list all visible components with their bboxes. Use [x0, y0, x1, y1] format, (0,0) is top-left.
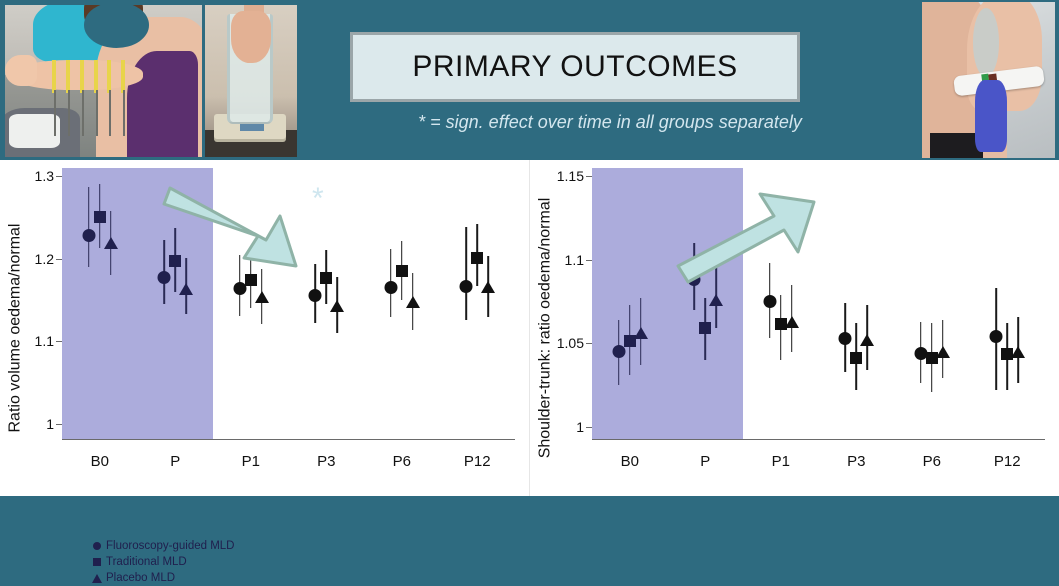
plot-area-right: 11.051.11.15 B0PP1P3P6P12	[592, 168, 1045, 440]
data-point-circle	[384, 281, 397, 294]
y-tick-label: 1.05	[557, 335, 584, 351]
data-point-square	[396, 265, 408, 277]
data-point-square	[169, 255, 181, 267]
water-displacement-volumetry-photo	[205, 5, 297, 157]
x-tick-label-B0: B0	[621, 453, 639, 470]
photo-tape-tail	[96, 90, 98, 136]
data-point-triangle	[179, 283, 193, 295]
photo-tape-tail	[82, 90, 84, 136]
photo-blue-glove	[975, 80, 1007, 152]
x-tick-label-P6: P6	[923, 453, 941, 470]
y-tick	[56, 424, 62, 425]
x-axis-line	[592, 439, 1045, 440]
legend-label: Placebo MLD	[106, 572, 175, 584]
photo-tape-tail	[123, 90, 125, 136]
data-point-circle	[460, 280, 473, 293]
x-tick-label-P6: P6	[393, 453, 411, 470]
data-point-triangle	[104, 237, 118, 249]
error-bar	[465, 227, 467, 321]
legend-marker-circle-icon	[88, 542, 106, 550]
shoulder-trunk-chart: Shoulder-trunk: ratio oedema/normal 11.0…	[530, 160, 1059, 496]
data-point-triangle	[330, 300, 344, 312]
arm-volume-chart: Ratio volume oedema/normal 11.11.21.3 B0…	[0, 160, 530, 496]
legend-label: Fluoroscopy-guided MLD	[106, 540, 234, 552]
y-tick-label: 1.2	[35, 251, 54, 267]
y-axis-label: Ratio volume oedema/normal	[0, 160, 30, 496]
x-tick-label-P3: P3	[317, 453, 335, 470]
photo-tape-measure	[94, 60, 98, 93]
significance-asterisk: *	[312, 184, 324, 214]
x-tick-label-P12: P12	[994, 453, 1021, 470]
chart-legend-left: Fluoroscopy-guided MLDTraditional MLDPla…	[88, 538, 234, 586]
data-point-square	[94, 211, 106, 223]
x-tick-label-P12: P12	[464, 453, 491, 470]
shaded-intervention-region	[62, 168, 213, 440]
data-point-circle	[158, 271, 171, 284]
y-tick-label: 1	[576, 419, 584, 435]
significance-note: * = sign. effect over time in all groups…	[330, 112, 890, 133]
legend-item: Placebo MLD	[88, 570, 234, 586]
plot-area-left: 11.11.21.3 B0PP1P3P6P12 *	[62, 168, 515, 440]
data-point-square	[850, 352, 862, 364]
data-point-circle	[688, 273, 701, 286]
photo-tape-measure	[80, 60, 84, 93]
y-tick	[586, 176, 592, 177]
x-tick-label-P1: P1	[242, 453, 260, 470]
data-point-triangle	[255, 291, 269, 303]
arm-circumference-measurement-photo	[5, 5, 202, 157]
photo-tape-tail	[54, 90, 56, 136]
y-tick	[56, 341, 62, 342]
data-point-triangle	[785, 316, 799, 328]
title-plate: PRIMARY OUTCOMES	[350, 32, 800, 102]
x-tick-label-B0: B0	[91, 453, 109, 470]
y-axis-label: Shoulder-trunk: ratio oedema/normal	[530, 160, 560, 496]
x-tick-label-P: P	[700, 453, 710, 470]
data-point-square	[699, 322, 711, 334]
page-title: PRIMARY OUTCOMES	[412, 50, 737, 84]
data-point-triangle	[860, 334, 874, 346]
y-tick	[586, 427, 592, 428]
y-tick-label: 1.3	[35, 168, 54, 184]
photo-tape-tail	[68, 90, 70, 136]
y-tick-label: 1.1	[35, 333, 54, 349]
data-point-square	[245, 274, 257, 286]
header-banner: PRIMARY OUTCOMES * = sign. effect over t…	[0, 0, 1059, 160]
photo-submerged-hand	[231, 11, 271, 63]
data-point-triangle	[406, 296, 420, 308]
data-point-triangle	[481, 281, 495, 293]
legend-marker-square-icon	[88, 558, 106, 566]
data-point-square	[320, 272, 332, 284]
photo-towel	[9, 114, 60, 147]
y-tick	[56, 176, 62, 177]
legend-item: Traditional MLD	[88, 554, 234, 570]
data-point-triangle	[936, 346, 950, 358]
x-axis-line	[62, 439, 515, 440]
data-point-circle	[763, 295, 776, 308]
x-tick-label-P1: P1	[772, 453, 790, 470]
legend-label: Traditional MLD	[106, 556, 187, 568]
y-tick	[586, 260, 592, 261]
photo-tape-tail	[109, 90, 111, 136]
shoulder-trunk-device-photo	[922, 2, 1055, 158]
photo-tape-measure	[66, 60, 70, 93]
photo-scale-display	[240, 124, 264, 132]
error-bar	[88, 187, 90, 267]
legend-marker-triangle-icon	[88, 574, 106, 583]
data-point-circle	[990, 330, 1003, 343]
data-point-circle	[839, 332, 852, 345]
data-point-circle	[82, 229, 95, 242]
y-tick	[56, 259, 62, 260]
photo-patient-hand	[5, 55, 37, 85]
photo-patient-purple-top	[127, 51, 198, 157]
legend-item: Fluoroscopy-guided MLD	[88, 538, 234, 554]
data-point-square	[471, 252, 483, 264]
data-point-triangle	[1011, 346, 1025, 358]
data-point-triangle	[634, 327, 648, 339]
data-point-triangle	[709, 294, 723, 306]
data-point-circle	[309, 289, 322, 302]
photo-tape-measure	[107, 60, 111, 93]
y-tick-label: 1.1	[565, 252, 584, 268]
y-tick	[586, 343, 592, 344]
photo-tape-measure	[52, 60, 56, 93]
charts-row: Ratio volume oedema/normal 11.11.21.3 B0…	[0, 160, 1059, 496]
x-tick-label-P: P	[170, 453, 180, 470]
photo-tape-measure	[121, 60, 125, 93]
photo-face-redaction-mask	[84, 5, 149, 48]
y-tick-label: 1	[46, 416, 54, 432]
photo-axilla-gap	[973, 8, 1000, 77]
x-tick-label-P3: P3	[847, 453, 865, 470]
y-tick-label: 1.15	[557, 168, 584, 184]
